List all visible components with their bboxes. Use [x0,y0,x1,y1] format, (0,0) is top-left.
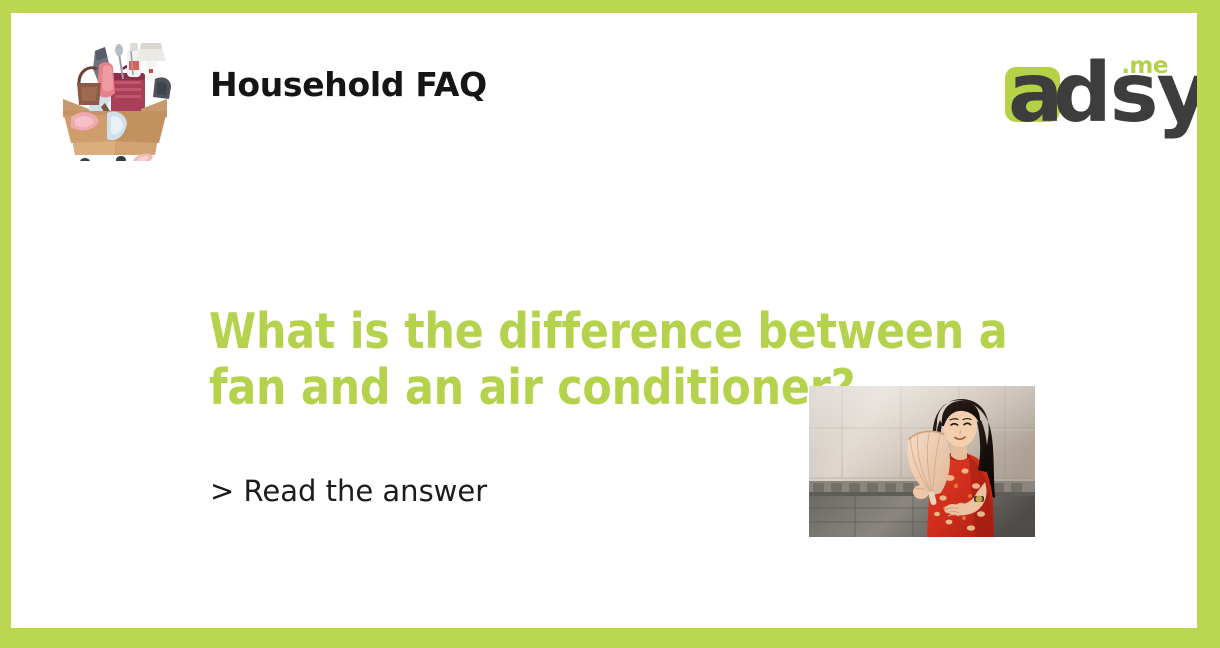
logo-tld: .me [1121,53,1168,79]
household-box-icon [45,31,185,161]
read-the-answer-link[interactable]: > Read the answer [210,473,487,509]
answer-photo [809,386,1035,537]
adsy-logo[interactable]: a dsy .me [1005,35,1170,127]
page-title: Household FAQ [210,65,487,104]
header: Household FAQ a dsy .me [11,13,1197,168]
card-inner: Household FAQ a dsy .me What is the diff… [11,13,1197,628]
faq-card: Household FAQ a dsy .me What is the diff… [0,0,1220,648]
